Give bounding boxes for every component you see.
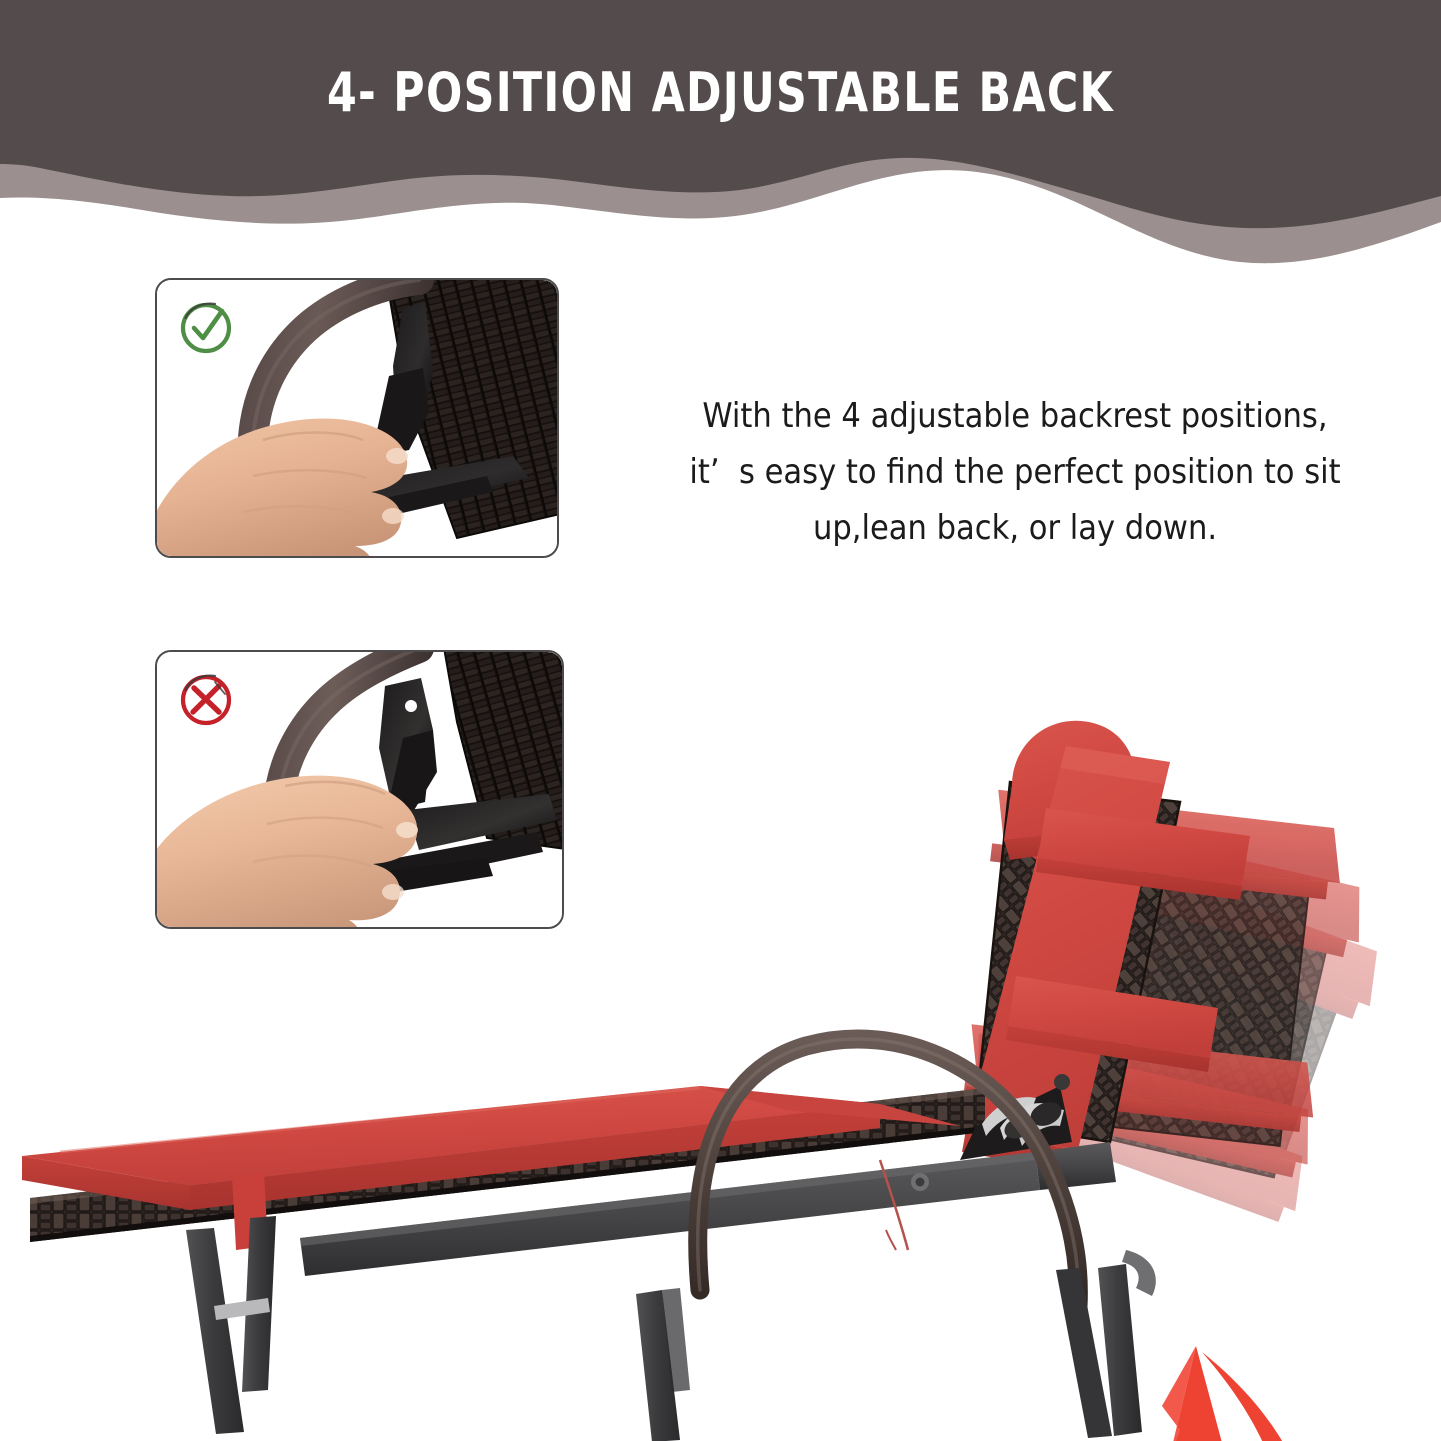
curved-up-arrow-icon [1162,1346,1338,1441]
check-circle-icon [175,296,237,358]
description-line-3: up,lean back, or lay down. [630,500,1400,556]
description-line-1: With the 4 adjustable backrest positions… [630,388,1400,444]
x-circle-icon [175,668,237,730]
banner-waves [0,0,1441,265]
leg-front-outer [186,1228,244,1434]
description-line-2: it’ s easy to find the perfect position … [630,444,1400,500]
chaise-lounge-diagram [0,690,1441,1441]
inset-card-correct [155,278,559,558]
header-banner: 4- POSITION ADJUSTABLE BACK [0,0,1441,265]
product-illustration [0,690,1441,1441]
infographic-canvas: 4- POSITION ADJUSTABLE BACK [0,0,1441,1441]
page-title: 4- POSITION ADJUSTABLE BACK [86,62,1354,124]
description-text: With the 4 adjustable backrest positions… [630,388,1400,556]
